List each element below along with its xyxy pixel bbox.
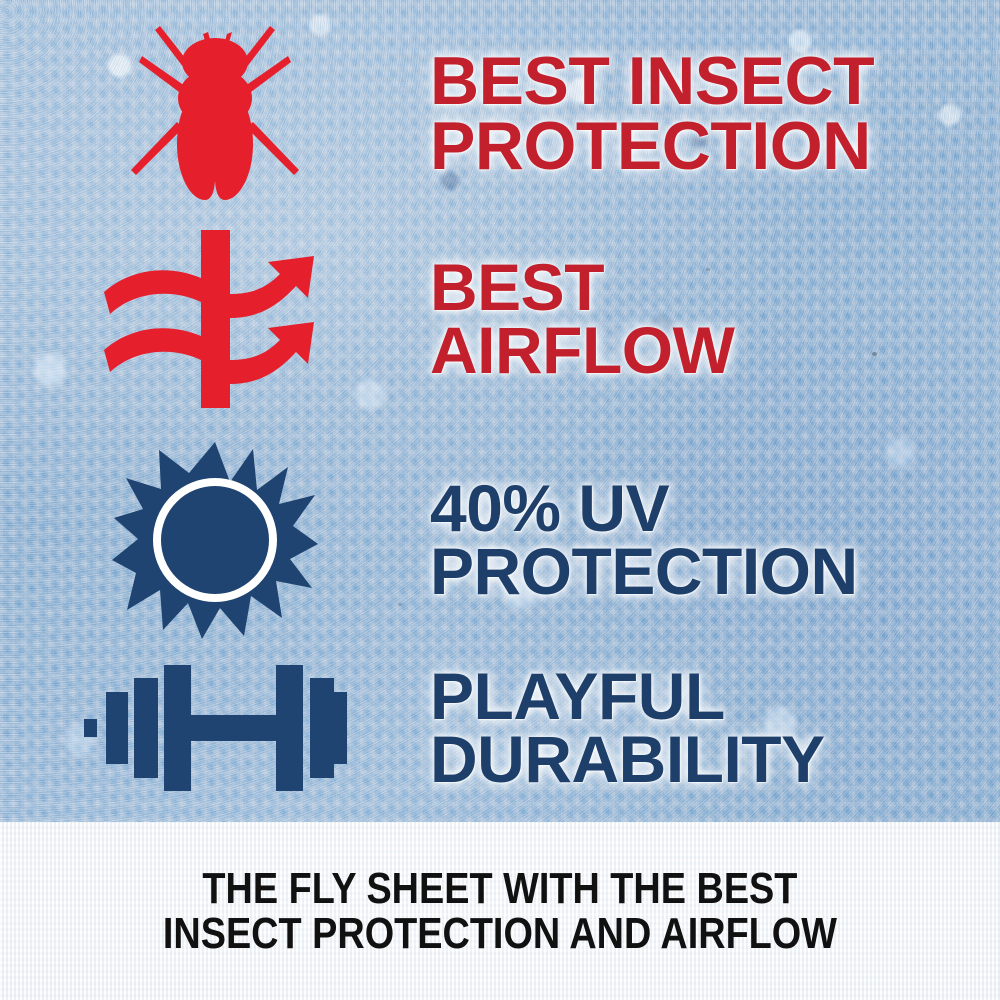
feature-line: 40% UV — [430, 477, 858, 540]
caption-line-2: INSECT PROTECTION AND AIRFLOW — [163, 911, 837, 956]
feature-line: BEST INSECT — [430, 49, 874, 114]
feature-line: PLAYFUL — [430, 665, 825, 728]
feature-line: PROTECTION — [430, 114, 874, 179]
sun-icon-cell — [0, 440, 430, 640]
airflow-arrows-icon — [100, 226, 330, 412]
dumbbell-icon-cell — [0, 648, 430, 808]
feature-row-airflow: BEST AIRFLOW — [0, 226, 1000, 412]
feature-row-uv-protection: 40% UV PROTECTION — [0, 440, 1000, 640]
uv-protection-text: 40% UV PROTECTION — [430, 477, 858, 604]
airflow-icon-cell — [0, 226, 430, 412]
fly-icon — [115, 18, 315, 210]
feature-row-insect-protection: BEST INSECT PROTECTION — [0, 18, 1000, 210]
durability-text: PLAYFUL DURABILITY — [430, 665, 825, 792]
feature-line: BEST — [430, 256, 734, 319]
infographic-canvas: BEST INSECT PROTECTION — [0, 0, 1000, 1000]
caption-band: THE FLY SHEET WITH THE BEST INSECT PROTE… — [0, 822, 1000, 1000]
feature-row-durability: PLAYFUL DURABILITY — [0, 648, 1000, 808]
feature-line: AIRFLOW — [430, 319, 734, 382]
airflow-text: BEST AIRFLOW — [430, 256, 734, 383]
fly-icon-cell — [0, 18, 430, 210]
feature-line: PROTECTION — [430, 540, 858, 603]
dumbbell-icon — [80, 653, 350, 803]
caption-line-1: THE FLY SHEET WITH THE BEST — [203, 866, 798, 911]
sun-uv-icon — [110, 440, 320, 640]
insect-protection-text: BEST INSECT PROTECTION — [430, 49, 874, 180]
feature-line: DURABILITY — [430, 728, 825, 791]
